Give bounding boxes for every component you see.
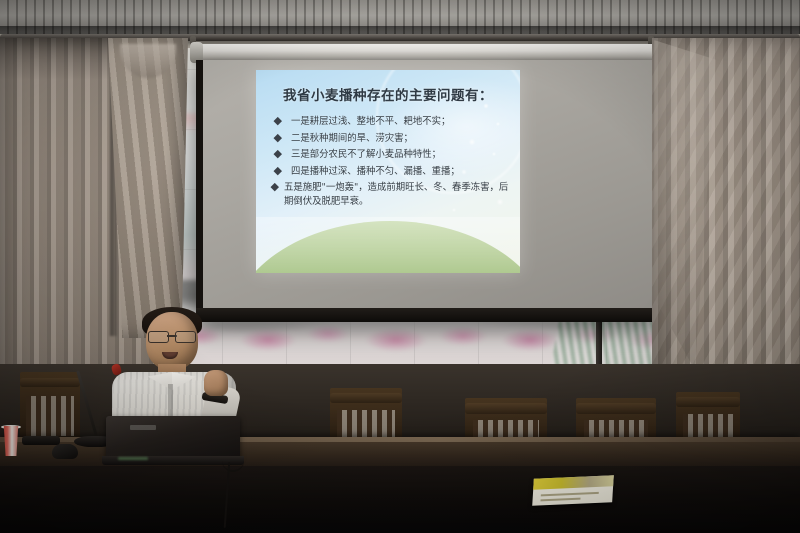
laptop-indicator-light bbox=[118, 457, 148, 460]
presenter-remote[interactable] bbox=[22, 436, 60, 445]
chair-slats bbox=[337, 410, 395, 438]
slide-bullet-text: 一是耕层过浅、整地不平、耙地不实； bbox=[291, 116, 450, 127]
slide-green-arc bbox=[256, 221, 520, 273]
slide-bullet-list: 一是耕层过浅、整地不平、耙地不实； 二是秋种期间的旱、涝灾害； 三是部分农民不了… bbox=[274, 115, 510, 209]
lens-left bbox=[148, 331, 169, 343]
chair-top-rail bbox=[465, 403, 547, 414]
conference-room-scene: 春风又绿江南 我省小麦播种存在的主要问题有： 一是耕层过浅、整地不平、耙地不实；… bbox=[0, 0, 800, 533]
conference-table-front bbox=[0, 466, 800, 533]
computer-mouse[interactable] bbox=[52, 444, 78, 459]
chair-top-rail bbox=[20, 378, 80, 387]
slide-bullet-item: 一是耕层过浅、整地不平、耙地不实； bbox=[274, 115, 510, 129]
screen-edge-left bbox=[196, 60, 203, 322]
slide-bullet-item: 二是秋种期间的旱、涝灾害； bbox=[274, 132, 510, 146]
slide-bullet-text: 五是施肥"一炮轰"，造成前期旺长、冬、春季冻害，后期倒伏及脱肥早衰。 bbox=[284, 182, 508, 207]
chair-top-rail bbox=[576, 403, 656, 414]
eyeglasses-icon bbox=[148, 331, 196, 341]
slide-bullet-text: 三是部分农民不了解小麦品种特性； bbox=[291, 149, 441, 160]
chair-slats bbox=[26, 396, 74, 436]
diamond-bullet-icon bbox=[274, 150, 282, 158]
laptop-logo bbox=[130, 425, 156, 430]
diamond-bullet-icon bbox=[274, 167, 282, 175]
projected-slide: 我省小麦播种存在的主要问题有： 一是耕层过浅、整地不平、耙地不实； 二是秋种期间… bbox=[256, 70, 520, 273]
laptop[interactable] bbox=[102, 416, 242, 464]
booklet-text-line bbox=[541, 492, 599, 497]
diamond-bullet-icon bbox=[271, 183, 279, 191]
booklet-header-band bbox=[533, 475, 614, 490]
laptop-lid bbox=[106, 416, 240, 458]
slide-bullet-item: 五是施肥"一炮轰"，造成前期旺长、冬、春季冻害，后期倒伏及脱肥早衰。 bbox=[274, 181, 510, 208]
slide-bullet-item: 四是播种过深、播种不匀、漏播、重播； bbox=[274, 165, 510, 179]
yellow-booklet[interactable] bbox=[532, 475, 614, 506]
diamond-bullet-icon bbox=[274, 133, 282, 141]
slide-bullet-text: 四是播种过深、播种不匀、漏播、重播； bbox=[291, 166, 460, 177]
chair-top-rail bbox=[330, 393, 402, 403]
diamond-bullet-icon bbox=[274, 117, 282, 125]
chair-top-rail bbox=[676, 397, 740, 407]
lens-right bbox=[175, 331, 196, 343]
slide-title: 我省小麦播种存在的主要问题有： bbox=[264, 84, 512, 104]
screen-roller-housing[interactable] bbox=[194, 44, 664, 61]
slide-bullet-item: 三是部分农民不了解小麦品种特性； bbox=[274, 148, 510, 162]
slide-bullet-text: 二是秋种期间的旱、涝灾害； bbox=[291, 133, 413, 144]
screen-bottom-bar bbox=[196, 308, 659, 322]
presenter-fist bbox=[204, 370, 228, 396]
booklet-text-line bbox=[540, 498, 580, 502]
